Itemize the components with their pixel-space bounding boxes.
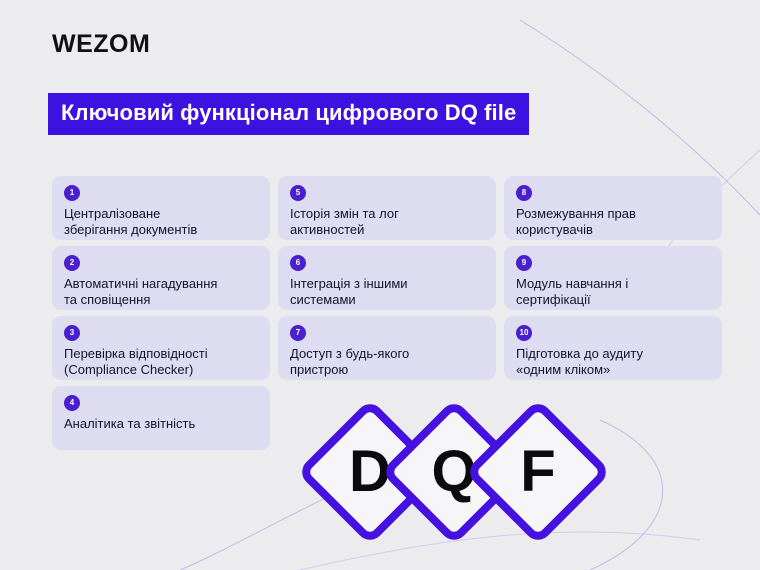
card-number-badge: 1	[64, 185, 80, 201]
card-label: Інтеграція з іншими системами	[290, 276, 484, 308]
diamond-f-icon: F	[464, 398, 611, 545]
feature-card[interactable]: 1 Централізоване зберігання документів	[52, 176, 270, 240]
card-number-badge: 9	[516, 255, 532, 271]
page-title: Ключовий функціонал цифрового DQ file	[61, 100, 516, 125]
feature-card[interactable]: 8 Розмежування прав користувачів	[504, 176, 722, 240]
card-label: Перевірка відповідності (Compliance Chec…	[64, 346, 258, 378]
feature-card[interactable]: 7 Доступ з будь-якого пристрою	[278, 316, 496, 380]
card-number-badge: 3	[64, 325, 80, 341]
page-title-banner: Ключовий функціонал цифрового DQ file	[48, 93, 529, 135]
feature-card[interactable]: 2 Автоматичні нагадування та сповіщення	[52, 246, 270, 310]
card-label: Історія змін та лог активностей	[290, 206, 484, 238]
card-label: Модуль навчання і сертифікації	[516, 276, 710, 308]
dqf-logo: D Q F	[318, 404, 642, 570]
feature-card[interactable]: 5 Історія змін та лог активностей	[278, 176, 496, 240]
feature-card[interactable]: 3 Перевірка відповідності (Compliance Ch…	[52, 316, 270, 380]
card-number-badge: 6	[290, 255, 306, 271]
slide-canvas: WEZOM Ключовий функціонал цифрового DQ f…	[0, 0, 760, 570]
feature-card[interactable]: 10 Підготовка до аудиту «одним кліком»	[504, 316, 722, 380]
card-number-badge: 2	[64, 255, 80, 271]
feature-card[interactable]: 9 Модуль навчання і сертифікації	[504, 246, 722, 310]
card-label: Доступ з будь-якого пристрою	[290, 346, 484, 378]
diamond-letter: F	[494, 428, 582, 516]
card-number-badge: 8	[516, 185, 532, 201]
card-label: Централізоване зберігання документів	[64, 206, 258, 238]
card-label: Аналітика та звітність	[64, 416, 258, 432]
card-label: Підготовка до аудиту «одним кліком»	[516, 346, 710, 378]
wezom-logo: WEZOM	[52, 31, 150, 57]
wezom-logo-text: WEZOM	[52, 31, 150, 57]
feature-card[interactable]: 4 Аналітика та звітність	[52, 386, 270, 450]
card-number-badge: 5	[290, 185, 306, 201]
card-label: Розмежування прав користувачів	[516, 206, 710, 238]
feature-card[interactable]: 6 Інтеграція з іншими системами	[278, 246, 496, 310]
card-label: Автоматичні нагадування та сповіщення	[64, 276, 258, 308]
card-number-badge: 10	[516, 325, 532, 341]
card-number-badge: 7	[290, 325, 306, 341]
card-number-badge: 4	[64, 395, 80, 411]
